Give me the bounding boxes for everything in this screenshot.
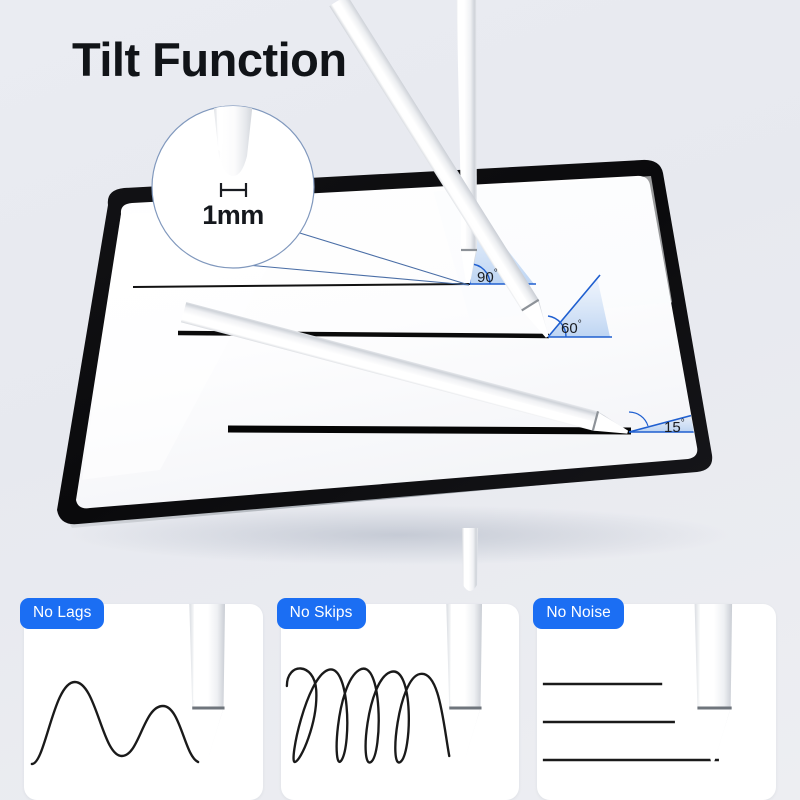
feature-card-row: No Lags [0,604,800,800]
marketing-graphic: Tilt Function [0,0,800,800]
stylus [694,604,733,762]
no-skips-illustration [281,604,520,800]
page-title: Tilt Function [72,32,347,87]
stylus-bottom-center [462,528,478,591]
feature-card-no-noise: No Noise [537,604,776,800]
angle-label-15: 15° [664,418,685,436]
stroke-15 [228,429,631,431]
stylus [188,604,225,762]
angle-90-value: 90 [477,269,494,286]
dense-loop-stroke [287,668,449,762]
badge-no-noise: No Noise [533,598,624,629]
stylus [445,604,482,762]
degree-icon: ° [681,418,685,429]
smooth-wave-stroke [32,682,198,764]
degree-icon: ° [494,268,498,279]
feature-card-no-lags: No Lags [24,604,263,800]
angle-15-value: 15 [664,419,681,436]
no-lags-illustration [24,604,263,800]
angle-label-90: 90° [477,268,498,286]
angle-60-value: 60 [561,320,578,337]
badge-no-skips: No Skips [277,598,366,629]
badge-no-lags: No Lags [20,598,104,629]
no-noise-illustration [537,604,776,800]
degree-icon: ° [578,319,582,330]
feature-card-no-skips: No Skips [281,604,520,800]
tilt-demo-scene [0,0,800,600]
angle-label-60: 60° [561,319,582,337]
